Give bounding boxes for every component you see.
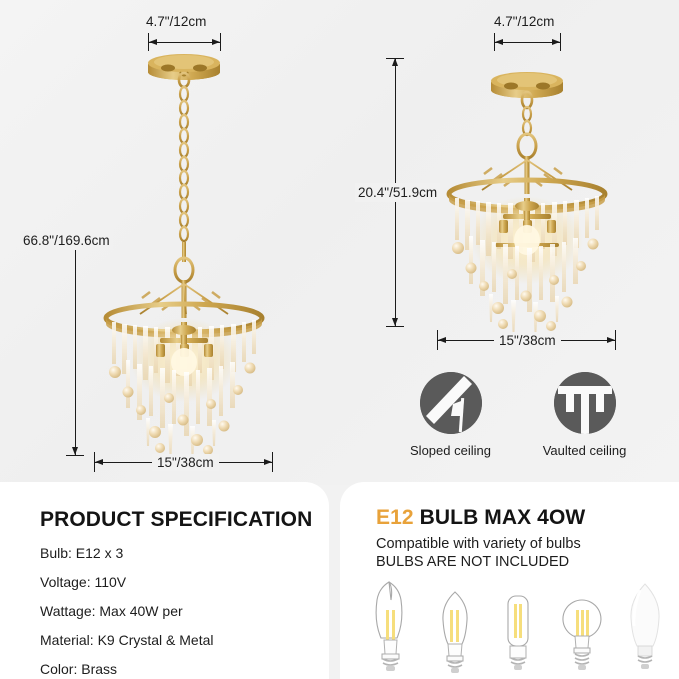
sloped-ceiling-icon bbox=[420, 372, 482, 434]
vaulted-ceiling-label: Vaulted ceiling bbox=[537, 443, 632, 458]
right-width-arrow-end bbox=[607, 337, 615, 343]
bulb-card-subtitle: Compatible with variety of bulbs bbox=[376, 536, 679, 552]
tube-filament-bulb bbox=[495, 578, 541, 674]
left-width-cap-end bbox=[272, 452, 273, 472]
ceiling-type-sloped: Sloped ceiling bbox=[403, 372, 498, 458]
ceiling-type-vaulted: Vaulted ceiling bbox=[537, 372, 632, 458]
bulb-card-title-rest: BULB MAX 4OW bbox=[414, 506, 586, 529]
right-canopy-cap-end bbox=[560, 33, 561, 51]
left-height-arrow-bottom bbox=[72, 447, 78, 455]
left-canopy-dim-label: 4.7"/12cm bbox=[146, 14, 206, 29]
right-width-dim-label: 15"/38cm bbox=[494, 332, 561, 349]
right-height-dim-label: 20.4"/51.9cm bbox=[355, 183, 440, 202]
bulb-card-title-accent: E12 bbox=[376, 506, 414, 529]
right-height-arrow-top bbox=[392, 58, 398, 66]
bulb-card-subtitle2: BULBS ARE NOT INCLUDED bbox=[376, 554, 679, 570]
product-spec-infographic: 4.7"/12cm 66.8"/169.6cm 15"/38cm bbox=[0, 0, 679, 679]
bulb-info-card: E12 BULB MAX 4OW Compatible with variety… bbox=[340, 482, 679, 679]
spec-row-wattage: Wattage: Max 40W per bbox=[40, 603, 329, 619]
globe-filament-bulb bbox=[559, 578, 605, 674]
right-canopy-dim-label: 4.7"/12cm bbox=[494, 14, 554, 29]
bulb-card-title: E12 BULB MAX 4OW bbox=[376, 506, 679, 530]
vaulted-ceiling-icon bbox=[554, 372, 616, 434]
left-height-cap-bottom bbox=[66, 455, 84, 456]
diagram-area: 4.7"/12cm 66.8"/169.6cm 15"/38cm bbox=[0, 0, 679, 485]
right-canopy-arrow-start bbox=[495, 39, 503, 45]
right-canopy-dim-line bbox=[494, 42, 560, 43]
spec-row-color: Color: Brass bbox=[40, 661, 329, 677]
spec-card-title: PRODUCT SPECIFICATION bbox=[40, 508, 329, 532]
left-canopy-dim-line bbox=[148, 42, 220, 43]
spec-row-bulb: Bulb: E12 x 3 bbox=[40, 545, 329, 561]
left-height-dim-line bbox=[75, 235, 76, 455]
left-width-arrow-end bbox=[264, 459, 272, 465]
right-width-cap-end bbox=[615, 330, 616, 350]
right-height-arrow-bottom bbox=[392, 318, 398, 326]
spec-row-material: Material: K9 Crystal & Metal bbox=[40, 632, 329, 648]
left-canopy-arrow-end bbox=[212, 39, 220, 45]
left-width-arrow-start bbox=[95, 459, 103, 465]
right-width-arrow-start bbox=[438, 337, 446, 343]
left-width-dim-label: 15"/38cm bbox=[152, 454, 219, 471]
left-canopy-arrow-start bbox=[149, 39, 157, 45]
left-height-dim-label: 66.8"/169.6cm bbox=[20, 231, 113, 250]
flame-tip-filament-bulb bbox=[368, 578, 414, 674]
right-height-cap-bottom bbox=[386, 326, 404, 327]
candle-filament-bulb bbox=[432, 578, 478, 674]
sloped-ceiling-label: Sloped ceiling bbox=[403, 443, 498, 458]
left-canopy-dim-cap-end bbox=[220, 33, 221, 51]
spec-row-voltage: Voltage: 110V bbox=[40, 574, 329, 590]
product-specification-card: PRODUCT SPECIFICATION Bulb: E12 x 3 Volt… bbox=[0, 482, 329, 679]
frosted-candle-led-bulb bbox=[622, 578, 668, 674]
right-height-cap-top bbox=[386, 58, 404, 59]
right-canopy-arrow-end bbox=[552, 39, 560, 45]
bulb-samples-row bbox=[368, 578, 668, 674]
